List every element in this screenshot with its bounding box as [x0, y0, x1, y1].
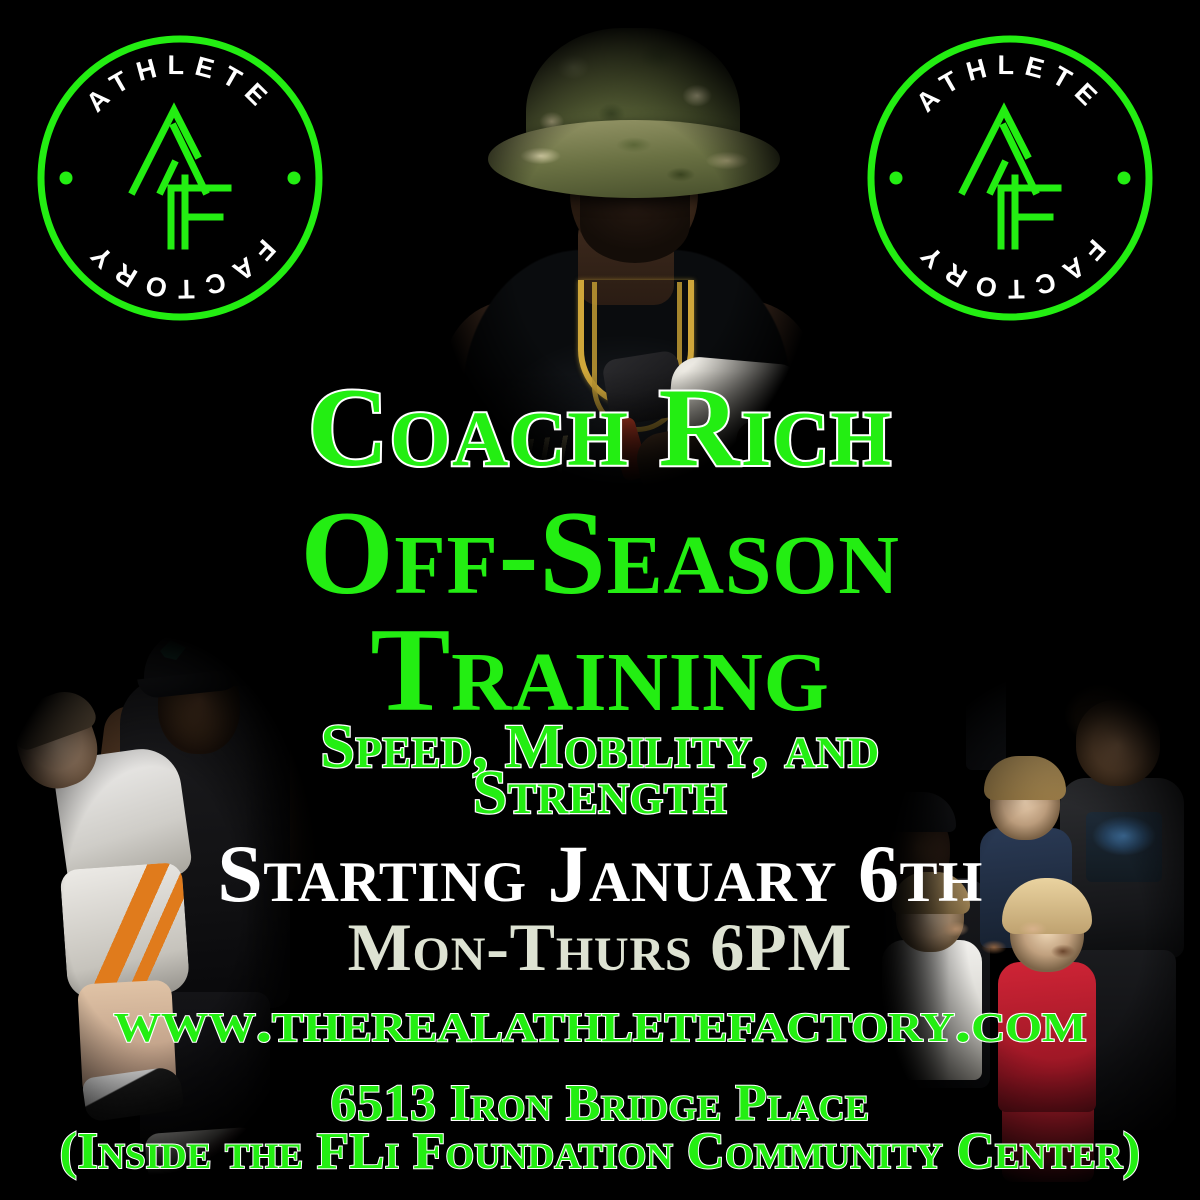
program-heading-line-1: Off-Season [0, 493, 1200, 613]
program-heading-line-2: Training [0, 610, 1200, 730]
website-url[interactable]: www.therealathletefactory.com [0, 993, 1200, 1051]
start-date-text: Starting January 6th [0, 833, 1200, 915]
flyer-text-layer: Coach Rich Off-Season Training Speed, Mo… [0, 0, 1200, 1200]
venue-note-text: (Inside the FLi Foundation Community Cen… [0, 1126, 1200, 1178]
coach-name-heading: Coach Rich [0, 372, 1200, 484]
flyer-canvas: ATHLETE FACTORY [0, 0, 1200, 1200]
schedule-time-text: Mon-Thurs 6PM [0, 913, 1200, 981]
subtitle-line-2: Strength [0, 762, 1200, 824]
